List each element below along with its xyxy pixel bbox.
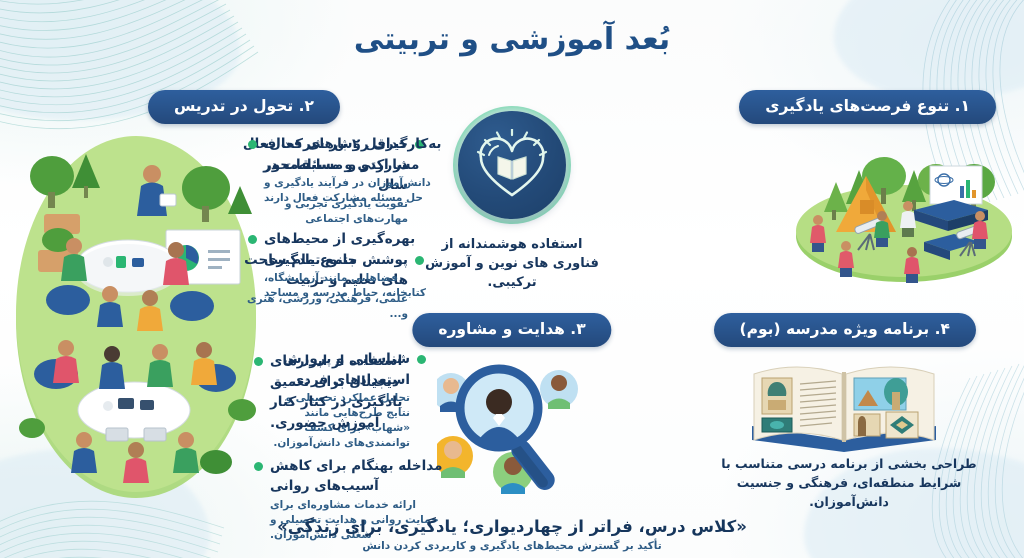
section-header-4[interactable]: ۴. برنامه ویژه مدرسه (بوم): [714, 313, 976, 347]
item-subtitle: فضاهایی مانند آزمایشگاه، کتابخانه، حیاط …: [264, 271, 444, 301]
footer-subtitle: تأکید بر گسترش محیط‌های یادگیری و کاربرد…: [0, 540, 1024, 552]
section-header-1[interactable]: ۱. تنوع فرصت‌های یادگیری: [739, 90, 996, 124]
magnifier-people-illustration: [437, 344, 587, 504]
emblem-disc: [458, 111, 566, 219]
item-subtitle: دانش‌آموزان در فرآیند یادگیری و حل مسئله…: [264, 176, 444, 206]
item-title: بهره‌گیری از محیط‌های متنوع یادگیری: [264, 231, 415, 268]
list-item[interactable]: بهره‌گیری از محیط‌های متنوع یادگیری فضاه…: [248, 228, 444, 301]
section-header-2[interactable]: ۲. تحول در تدریس: [148, 90, 340, 124]
infographic-canvas: بُعد آموزشی و تربیتی ۱. تنوع فرصت‌های یا…: [0, 0, 1024, 558]
bullet-dot-icon: [248, 235, 257, 244]
bullet-dot-icon: [254, 357, 263, 366]
section-2-items: به‌کارگیری روش‌های فعال، مشارکتی و مسئله…: [248, 133, 444, 313]
center-emblem: [453, 106, 571, 224]
list-item[interactable]: استفاده از ابزارهای دیجیتال برای تعمیق ی…: [254, 350, 444, 433]
item-title: مداخله بهنگام برای کاهش آسیب‌های روانی: [270, 458, 442, 495]
bullet-dot-icon: [254, 462, 263, 471]
section-4-caption: طراحی بخشی از برنامه درسی متناسب با شرای…: [718, 455, 980, 511]
page-title: بُعد آموزشی و تربیتی: [0, 22, 1024, 57]
open-book-persian-art-illustration: [744, 348, 944, 456]
section-header-3[interactable]: ۳. هدایت و مشاوره: [412, 313, 611, 347]
bullet-dot-icon: [248, 140, 257, 149]
footer: «کلاس درس، فراتر از چهاردیواری؛ یادگیری،…: [0, 516, 1024, 552]
center-caption: استفاده هوشمندانه از فناوری های نوین و آ…: [417, 236, 607, 293]
item-title: استفاده از ابزارهای دیجیتال برای تعمیق ی…: [270, 353, 402, 431]
classroom-isometric-illustration: [10, 110, 270, 510]
item-title: به‌کارگیری روش‌های فعال، مشارکتی و مسئله…: [264, 136, 441, 173]
list-item[interactable]: به‌کارگیری روش‌های فعال، مشارکتی و مسئله…: [248, 133, 444, 206]
heart-with-open-book-icon: [475, 129, 549, 201]
footer-quote: «کلاس درس، فراتر از چهاردیواری؛ یادگیری،…: [0, 516, 1024, 537]
camp-outdoor-learning-illustration: [784, 124, 1022, 292]
